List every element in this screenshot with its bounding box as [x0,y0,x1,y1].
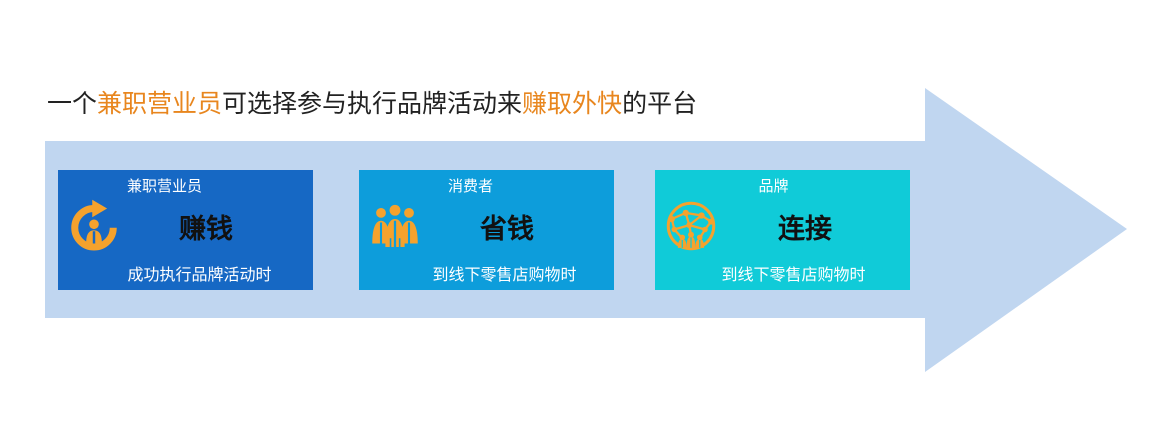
card-role-label: 消费者 [359,177,614,197]
value-card-brand[interactable]: 品牌 [655,170,910,290]
card-caption: 成功执行品牌活动时 [58,265,313,287]
title-segment-4: 的平台 [622,91,697,118]
globe-network-people-icon [663,198,719,254]
title-segment-1-highlight: 兼职营业员 [97,91,222,118]
title-segment-0: 一个 [47,91,97,118]
card-caption: 到线下零售店购物时 [655,265,910,287]
title-segment-2: 可选择参与执行品牌活动来 [222,91,522,118]
card-headline: 连接 [715,210,895,248]
value-card-part-time-promoter[interactable]: 兼职营业员 赚钱 成功执行品牌活动时 [58,170,313,290]
card-headline: 省钱 [417,210,597,248]
card-caption: 到线下零售店购物时 [359,265,614,287]
page-title: 一个兼职营业员可选择参与执行品牌活动来赚取外快的平台 [47,88,697,122]
title-segment-3-highlight: 赚取外快 [522,91,622,118]
slide-canvas: 一个兼职营业员可选择参与执行品牌活动来赚取外快的平台 兼职营业员 赚钱 成功执行… [0,0,1150,430]
card-role-label: 品牌 [655,177,910,197]
people-group-icon [367,198,423,254]
card-role-label: 兼职营业员 [58,177,313,197]
card-headline: 赚钱 [120,210,292,248]
value-card-consumer[interactable]: 消费者 省钱 到线下零售店购物时 [359,170,614,290]
person-refresh-icon [66,198,122,254]
